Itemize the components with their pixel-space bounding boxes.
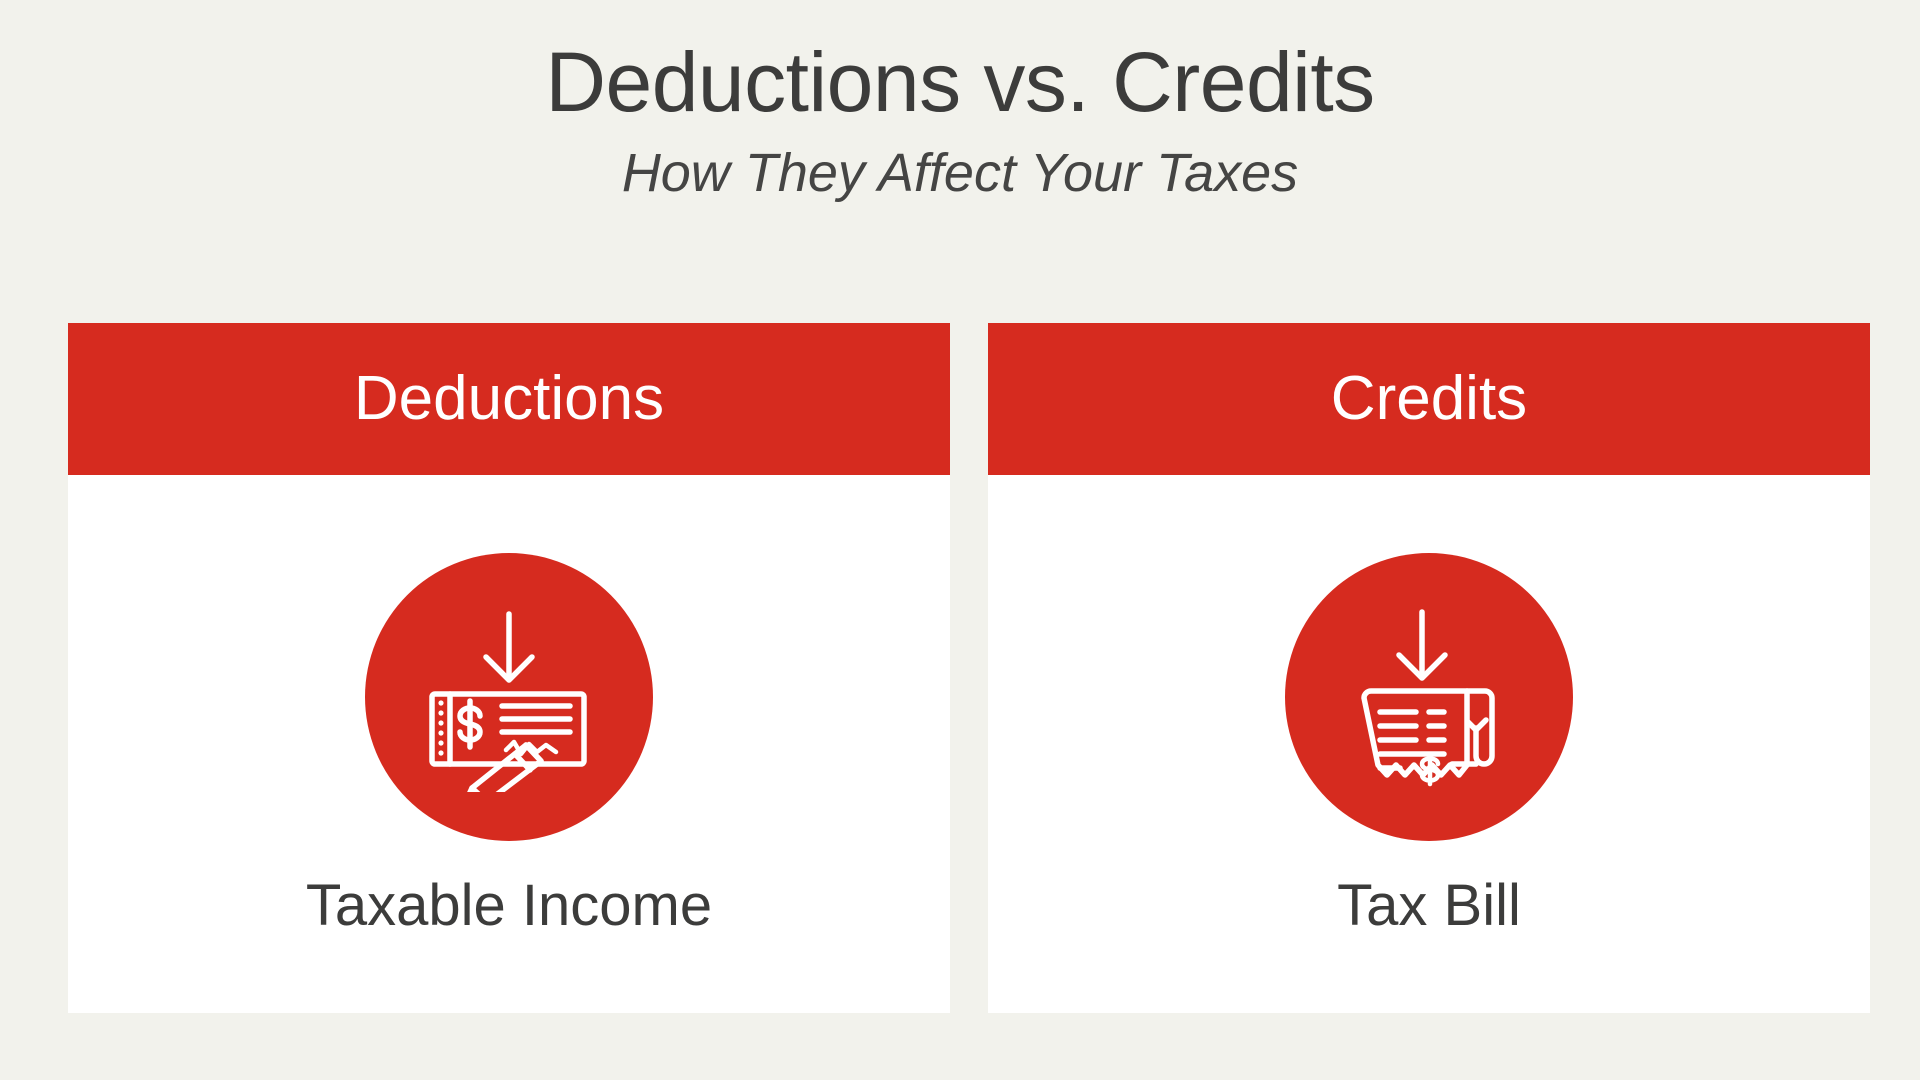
card-deductions: Deductions (68, 323, 950, 1013)
card-caption: Taxable Income (306, 877, 712, 935)
arrow-down-cheque-pencil-icon (414, 602, 604, 792)
card-caption: Tax Bill (1337, 877, 1521, 935)
card-credits: Credits (988, 323, 1870, 1013)
slide-header: Deductions vs. Credits How They Affect Y… (0, 40, 1920, 200)
card-body-credits: Tax Bill (988, 475, 1870, 1013)
card-header-label: Credits (1331, 368, 1527, 430)
icon-badge-credits (1285, 553, 1573, 841)
card-header-credits: Credits (988, 323, 1870, 475)
icon-badge-deductions (365, 553, 653, 841)
page-title: Deductions vs. Credits (0, 40, 1920, 124)
page-subtitle: How They Affect Your Taxes (0, 146, 1920, 200)
card-header-label: Deductions (354, 368, 664, 430)
arrow-down-receipt-dollar-icon (1334, 602, 1524, 792)
slide-root: Deductions vs. Credits How They Affect Y… (0, 0, 1920, 1080)
card-header-deductions: Deductions (68, 323, 950, 475)
card-body-deductions: Taxable Income (68, 475, 950, 1013)
comparison-cards: Deductions (68, 323, 1870, 1013)
